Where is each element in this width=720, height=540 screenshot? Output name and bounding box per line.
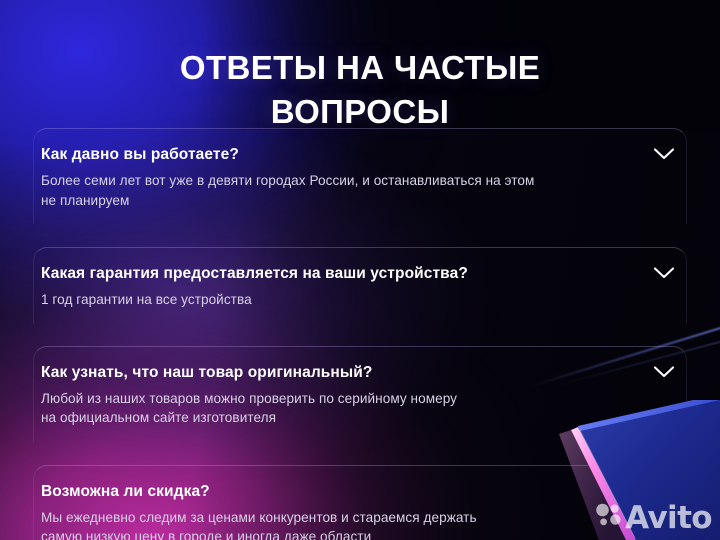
faq-answer: Мы ежедневно следим за ценами конкуренто… bbox=[41, 508, 626, 540]
faq-item[interactable]: Какая гарантия предоставляется на ваши у… bbox=[33, 247, 687, 324]
faq-item[interactable]: Как давно вы работаете? Более семи лет в… bbox=[33, 128, 687, 224]
faq-question: Возможна ли скидка? bbox=[41, 482, 626, 501]
avito-watermark: Avito bbox=[595, 502, 712, 534]
chevron-down-icon[interactable] bbox=[653, 147, 675, 161]
faq-answer: Любой из наших товаров можно проверить п… bbox=[41, 389, 626, 428]
faq-screen: ОТВЕТЫ НА ЧАСТЫЕ ВОПРОСЫ Как давно вы ра… bbox=[0, 0, 720, 540]
chevron-down-icon[interactable] bbox=[653, 266, 675, 280]
faq-item[interactable]: Как узнать, что наш товар оригинальный? … bbox=[33, 346, 687, 442]
page-title: ОТВЕТЫ НА ЧАСТЫЕ ВОПРОСЫ bbox=[0, 46, 720, 133]
faq-question: Как узнать, что наш товар оригинальный? bbox=[41, 363, 626, 382]
faq-question: Какая гарантия предоставляется на ваши у… bbox=[41, 264, 626, 283]
faq-item[interactable]: Возможна ли скидка? Мы ежедневно следим … bbox=[33, 465, 687, 540]
faq-question: Как давно вы работаете? bbox=[41, 145, 626, 164]
faq-answer: 1 год гарантии на все устройства bbox=[41, 290, 626, 309]
avito-dots-logo bbox=[595, 502, 622, 534]
chevron-down-icon[interactable] bbox=[653, 365, 675, 379]
avito-brand-text: Avito bbox=[625, 503, 712, 534]
faq-accordion: Как давно вы работаете? Более семи лет в… bbox=[0, 128, 720, 540]
faq-answer: Более семи лет вот уже в девяти городах … bbox=[41, 171, 626, 210]
chevron-down-icon[interactable] bbox=[653, 484, 675, 498]
